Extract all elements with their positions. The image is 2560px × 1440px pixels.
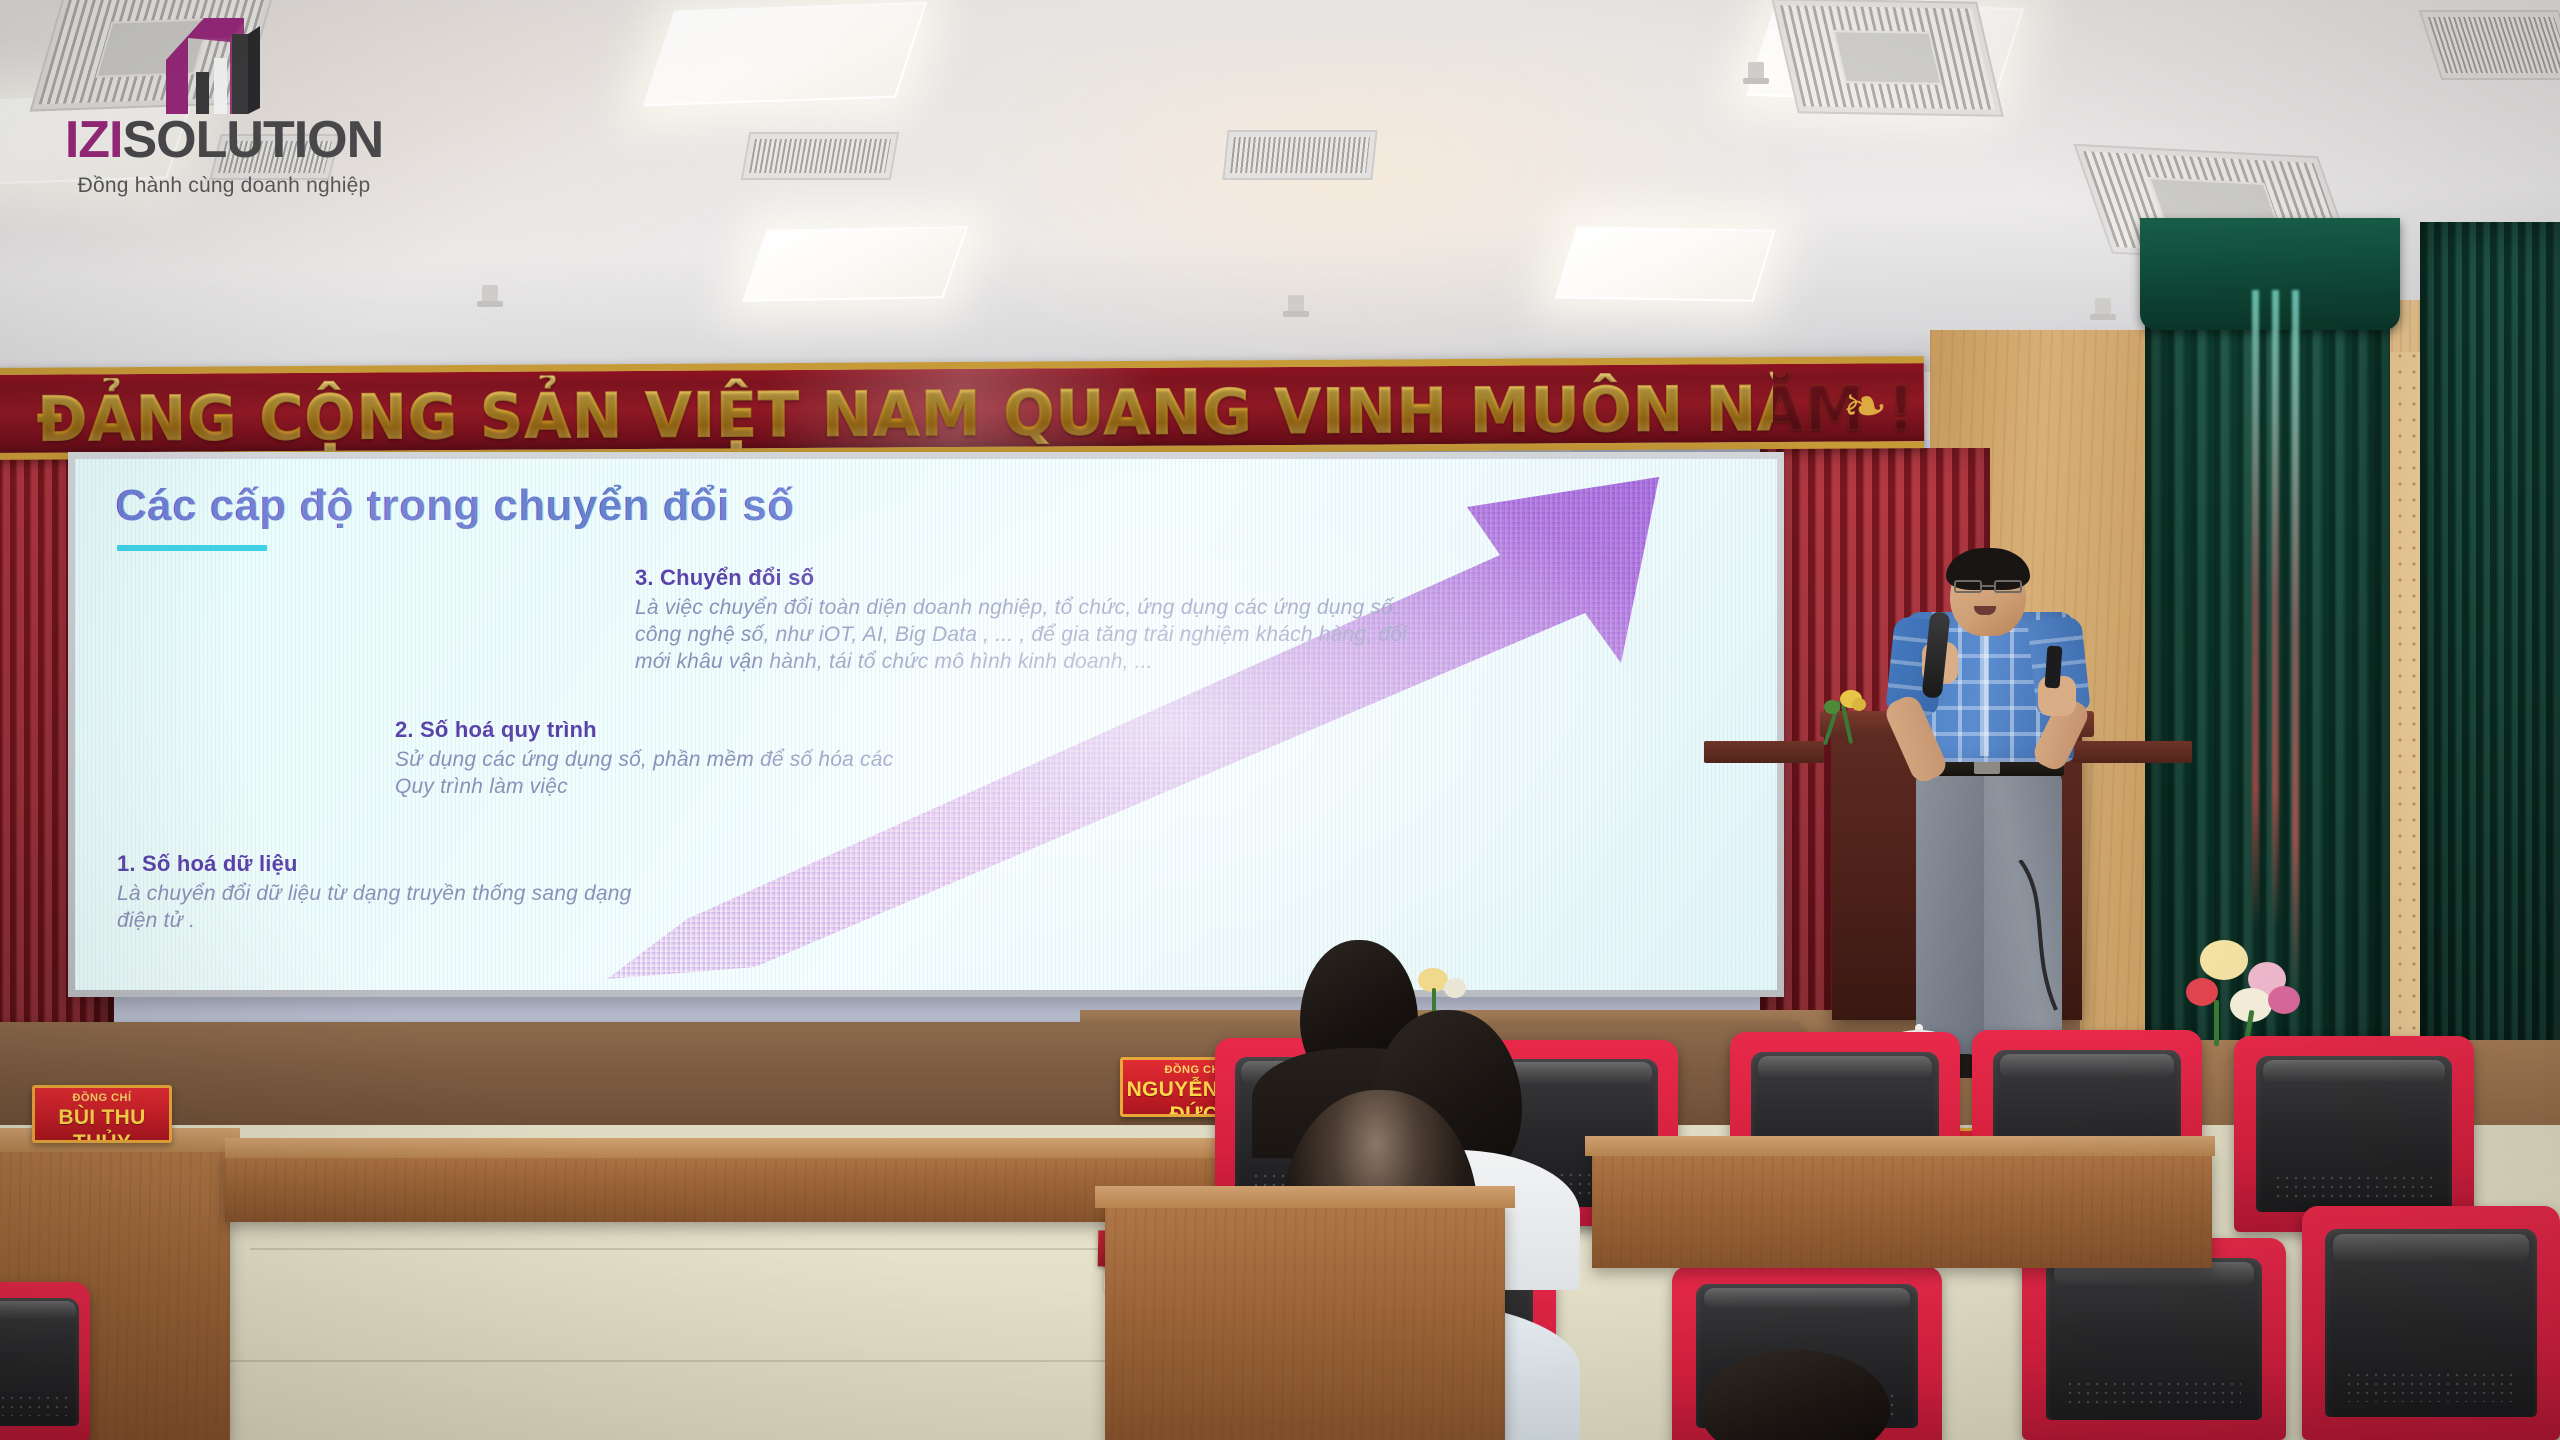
led-presentation-screen: Các cấp độ trong chuyển đổi số bbox=[68, 452, 1784, 997]
slide-level-3: 3. Chuyển đổi số Là việc chuyển đổi toàn… bbox=[635, 565, 1425, 675]
hvac-vent bbox=[741, 132, 899, 180]
ceiling-light-panel bbox=[1555, 226, 1776, 301]
level-2-body: Sử dụng các ứng dụng số, phần mềm để số … bbox=[395, 746, 935, 800]
flower bbox=[1824, 700, 1840, 714]
level-2-heading: 2. Số hoá quy trình bbox=[395, 717, 935, 743]
sprinkler-head bbox=[1748, 62, 1764, 80]
green-curtain-right bbox=[2420, 222, 2560, 1092]
green-curtain-left bbox=[2145, 222, 2390, 1082]
nameplate-name: BÙI THU THỦY bbox=[35, 1105, 169, 1143]
ceiling-light-glow-center bbox=[900, 40, 1800, 370]
flower bbox=[2200, 940, 2248, 980]
eyeglasses-icon bbox=[1954, 580, 2022, 593]
curtain-light-gap bbox=[2292, 290, 2299, 990]
level-3-body: Là việc chuyển đổi toàn diện doanh nghiệ… bbox=[635, 594, 1425, 675]
audience-desk bbox=[1592, 1148, 2212, 1268]
hvac-vent bbox=[1222, 130, 1377, 180]
curtain-light-gap bbox=[2252, 290, 2259, 930]
auditorium-chair bbox=[2234, 1036, 2474, 1232]
slide-level-2: 2. Số hoá quy trình Sử dụng các ứng dụng… bbox=[395, 717, 935, 800]
title-underline bbox=[117, 545, 267, 551]
banner-text: ĐẢNG CỘNG SẢN VIỆT NAM QUANG VINH MUÔN N… bbox=[37, 368, 1774, 460]
slide-surface: Các cấp độ trong chuyển đổi số bbox=[75, 459, 1777, 990]
nameplate-bui-thu-thuy: ĐỒNG CHÍ BÙI THU THỦY PHÓ CỤC TRƯỞNG CỤC… bbox=[32, 1085, 172, 1143]
slide-title: Các cấp độ trong chuyển đổi số bbox=[115, 481, 794, 531]
slide-level-1: 1. Số hoá dữ liệu Là chuyển đổi dữ liệu … bbox=[117, 851, 647, 934]
level-1-heading: 1. Số hoá dữ liệu bbox=[117, 851, 647, 877]
audience-desk-top bbox=[1095, 1186, 1515, 1208]
sprinkler-head bbox=[482, 285, 498, 303]
conference-hall-photo: IZISOLUTION Đồng hành cùng doanh nghiệp … bbox=[0, 0, 2560, 1440]
auditorium-chair bbox=[0, 1282, 90, 1440]
lotus-ornament-icon: ❧ bbox=[1830, 377, 1900, 439]
hvac-vent bbox=[2419, 10, 2560, 80]
ceiling-light-panel bbox=[643, 2, 928, 107]
logo-solution-text: SOLUTION bbox=[123, 111, 384, 169]
auditorium-chair bbox=[2022, 1238, 2286, 1440]
presentation-clicker-icon bbox=[2045, 646, 2063, 689]
party-slogan-banner: ĐẢNG CỘNG SẢN VIỆT NAM QUANG VINH MUÔN N… bbox=[0, 356, 1924, 460]
floor-tile-line bbox=[250, 1248, 1150, 1250]
flower bbox=[2268, 986, 2300, 1014]
logo-izi-text: IZI bbox=[65, 111, 123, 169]
sprinkler-head bbox=[1288, 295, 1304, 313]
level-1-body: Là chuyển đổi dữ liệu từ dạng truyền thố… bbox=[117, 880, 647, 934]
audience-desk bbox=[1105, 1200, 1505, 1440]
logo-tagline: Đồng hành cùng doanh nghiệp bbox=[24, 174, 424, 198]
podium-arm-left bbox=[1704, 741, 1824, 763]
audience-desk-top bbox=[1585, 1136, 2215, 1156]
level-3-heading: 3. Chuyển đổi số bbox=[635, 565, 1425, 591]
auditorium-chair bbox=[2302, 1206, 2560, 1440]
logo-wordmark: IZISOLUTION bbox=[24, 114, 424, 166]
flower bbox=[1444, 978, 1466, 998]
curtain-light-gap bbox=[2272, 290, 2279, 930]
hvac-vent bbox=[1771, 0, 2004, 117]
flower bbox=[1852, 698, 1866, 711]
sprinkler-head bbox=[2095, 298, 2111, 316]
curtain-valance bbox=[2140, 218, 2400, 330]
ceiling-light-panel bbox=[742, 226, 968, 301]
floor-tile-line bbox=[180, 1360, 1180, 1362]
nameplate-prefix: ĐỒNG CHÍ bbox=[35, 1092, 169, 1105]
bar-chart-arrow-logo-icon bbox=[152, 18, 302, 118]
izisolution-logo: IZISOLUTION Đồng hành cùng doanh nghiệp bbox=[24, 18, 424, 204]
